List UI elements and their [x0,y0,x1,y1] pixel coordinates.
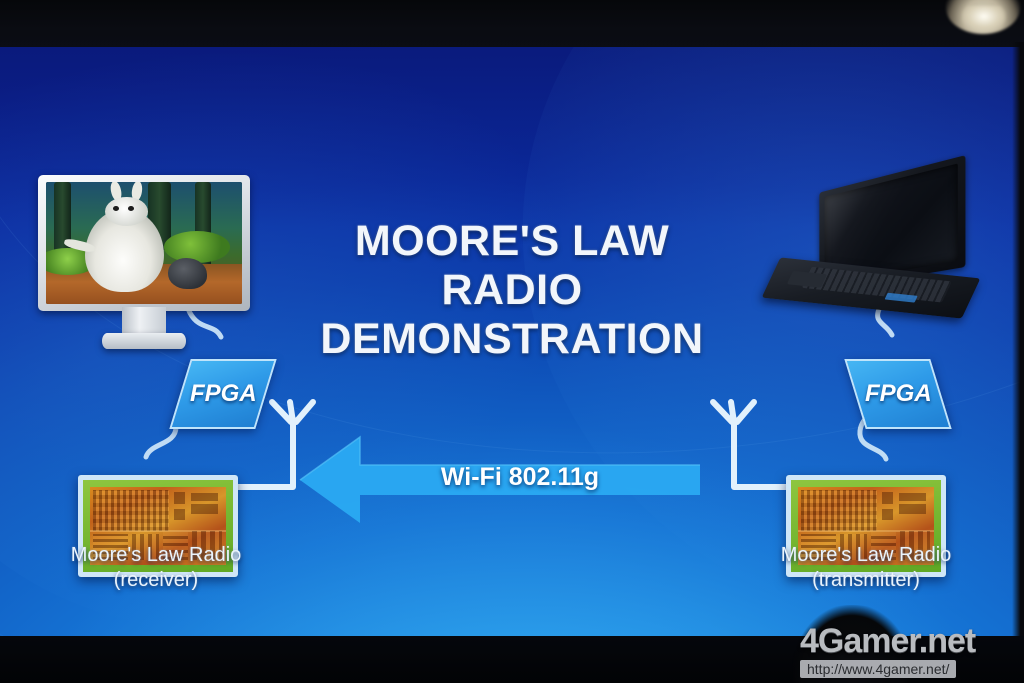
page-title: MOORE'S LAW RADIO DEMONSTRATION [202,217,822,364]
bunny-eye-icon [113,206,119,211]
bunny-head [105,197,148,226]
die-memory-array [801,490,877,531]
die-block [174,492,185,504]
display-monitor [38,175,250,350]
monitor-screen [46,182,242,304]
watermark-url: http://www.4gamer.net/ [800,660,956,678]
die-block [899,493,926,501]
die-block [882,509,893,520]
laptop-touchpad [787,271,827,288]
fpga-label-right: FPGA [865,380,932,408]
monitor-stand-base [102,333,186,349]
screen-right-edge-shadow [1012,42,1024,642]
fpga-label-left: FPGA [190,380,257,408]
ceiling-lamp-glow [962,6,1006,32]
wifi-link-label: Wi-Fi 802.11g [400,463,640,492]
caption-transmitter-line-1: Moore's Law Radio [736,543,996,568]
title-line-2: RADIO [202,266,822,315]
die-memory-array [93,490,169,531]
caption-receiver-line-1: Moore's Law Radio [26,543,286,568]
caption-receiver: Moore's Law Radio (receiver) [26,543,286,593]
foliage-icon [164,231,231,263]
die-block [899,504,926,513]
room-ceiling-dark-band [0,0,1024,50]
die-block [191,493,218,501]
title-line-1: MOORE'S LAW [202,217,822,266]
die-block [882,492,893,504]
thinkpad-laptop [765,175,980,315]
photo-of-presentation-slide: MOORE'S LAW RADIO DEMONSTRATION Wi-Fi 80… [0,0,1024,683]
projection-screen: MOORE'S LAW RADIO DEMONSTRATION Wi-Fi 80… [0,47,1024,637]
caption-transmitter: Moore's Law Radio (transmitter) [736,543,996,593]
die-block [174,509,185,520]
rock-icon [168,258,207,290]
title-line-3: DEMONSTRATION [202,315,822,364]
watermark: 4Gamer.net http://www.4gamer.net/ [800,624,1014,679]
watermark-brand: 4Gamer.net [800,624,1014,658]
die-block [191,504,218,513]
monitor-bezel [38,175,250,311]
caption-receiver-line-2: (receiver) [26,568,286,593]
caption-transmitter-line-2: (transmitter) [736,568,996,593]
